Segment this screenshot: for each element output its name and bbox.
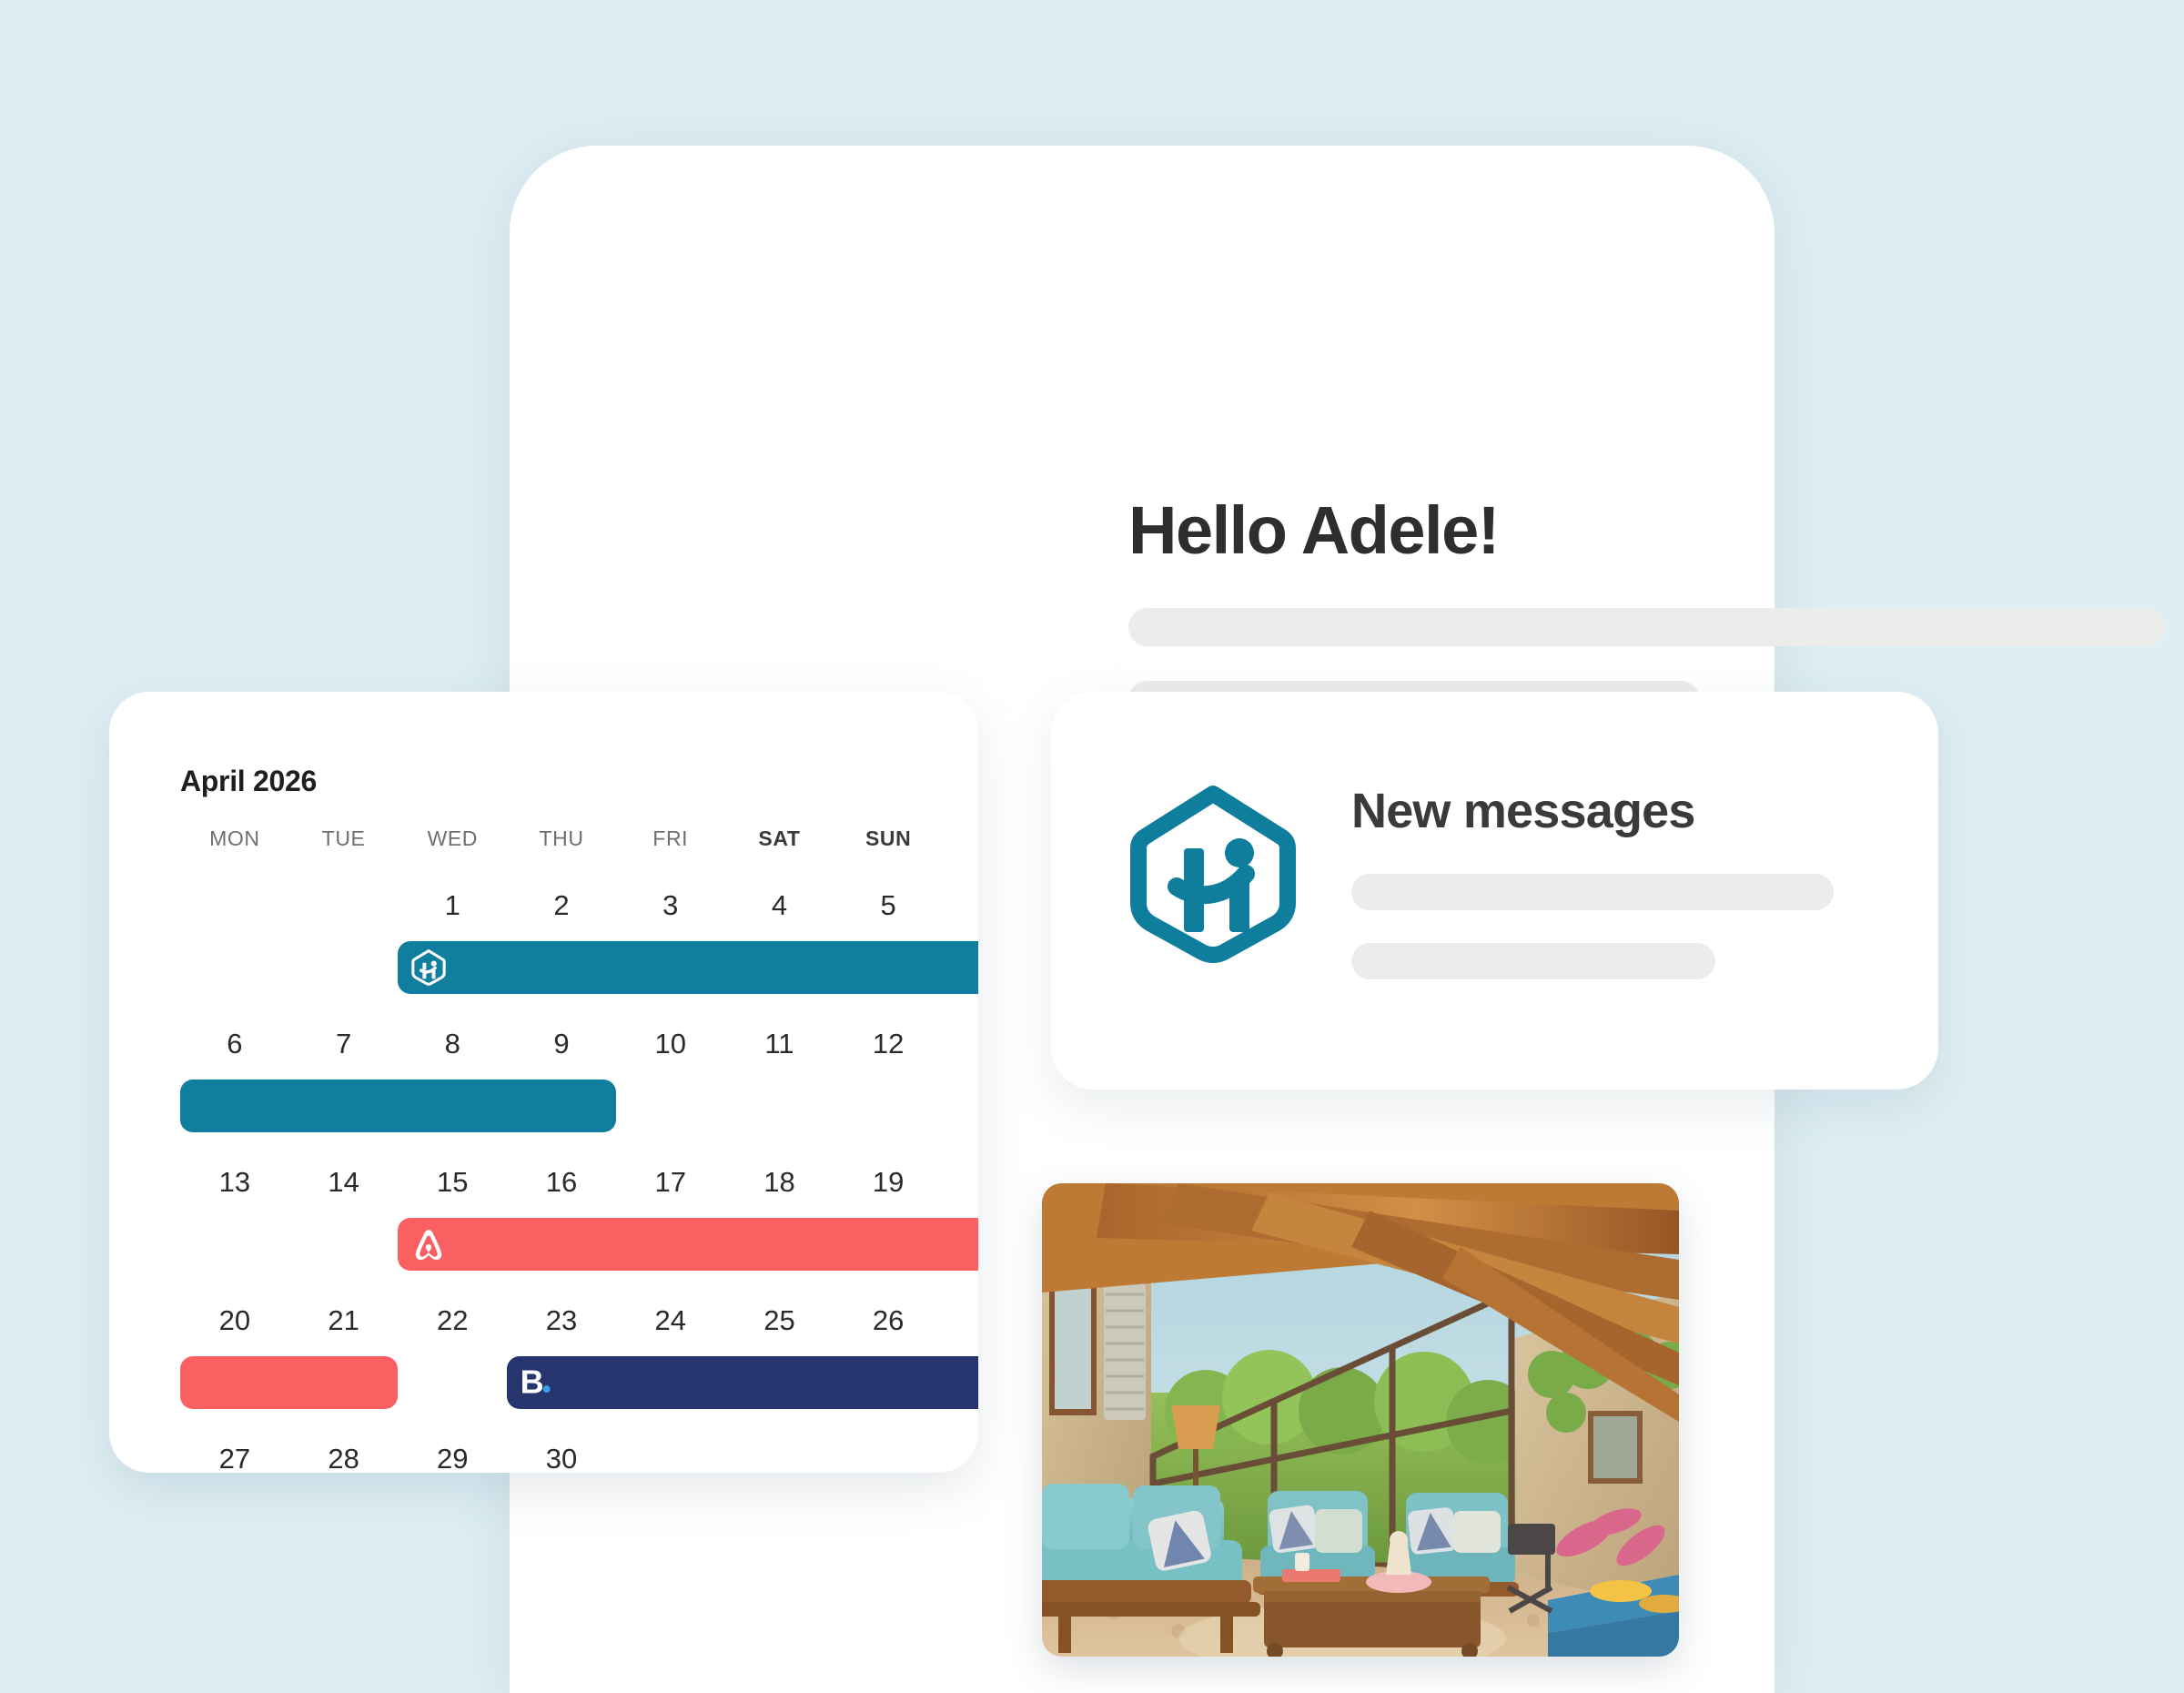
calendar-day-12[interactable]: 12	[834, 1019, 943, 1069]
calendar-day-empty	[616, 1434, 725, 1473]
calendar-day-19[interactable]: 19	[834, 1158, 943, 1207]
calendar-day-3[interactable]: 3	[616, 881, 725, 930]
booking-bar-hostaway[interactable]	[398, 941, 978, 994]
hostaway-home-icon	[1122, 783, 1304, 965]
calendar-day-18[interactable]: 18	[725, 1158, 834, 1207]
calendar-weekday-thu: THU	[507, 826, 616, 851]
calendar-day-1[interactable]: 1	[398, 881, 507, 930]
calendar-day-7[interactable]: 7	[289, 1019, 399, 1069]
calendar-day-27[interactable]: 27	[180, 1434, 289, 1473]
message-placeholder-line-2	[1351, 943, 1715, 979]
calendar-day-21[interactable]: 21	[289, 1296, 399, 1345]
booking-bar-booking[interactable]: B	[507, 1356, 978, 1409]
calendar-week-row: 27282930	[180, 1434, 943, 1473]
calendar-day-22[interactable]: 22	[398, 1296, 507, 1345]
calendar-day-13[interactable]: 13	[180, 1158, 289, 1207]
property-photo[interactable]	[1042, 1183, 1679, 1657]
calendar-day-2[interactable]: 2	[507, 881, 616, 930]
new-messages-title: New messages	[1351, 783, 1695, 839]
calendar-day-8[interactable]: 8	[398, 1019, 507, 1069]
calendar-grid[interactable]: 1234567891011121314151617181920212223242…	[180, 881, 943, 1473]
calendar-day-20[interactable]: 20	[180, 1296, 289, 1345]
calendar-day-6[interactable]: 6	[180, 1019, 289, 1069]
calendar-day-empty	[725, 1434, 834, 1473]
calendar-weekday-sat: SAT	[725, 826, 834, 851]
calendar-week-row: 20212223242526B	[180, 1296, 943, 1434]
greeting-placeholder-line-1	[1128, 608, 2166, 646]
calendar-day-16[interactable]: 16	[507, 1158, 616, 1207]
calendar-day-10[interactable]: 10	[616, 1019, 725, 1069]
booking-b-icon: B	[514, 1359, 561, 1406]
calendar-day-14[interactable]: 14	[289, 1158, 399, 1207]
calendar-weekday-tue: TUE	[289, 826, 399, 851]
calendar-card[interactable]: April 2026 MONTUEWEDTHUFRISATSUN 1234567…	[109, 692, 978, 1473]
calendar-week-row: 6789101112	[180, 1019, 943, 1158]
calendar-day-empty	[289, 881, 399, 930]
calendar-day-empty	[834, 1434, 943, 1473]
page-title: Hello Adele!	[1128, 492, 1499, 569]
calendar-month-label: April 2026	[180, 765, 317, 798]
airbnb-belo-icon	[405, 1221, 452, 1268]
calendar-weekday-mon: MON	[180, 826, 289, 851]
calendar-day-30[interactable]: 30	[507, 1434, 616, 1473]
message-placeholder-line-1	[1351, 874, 1834, 910]
calendar-weekday-wed: WED	[398, 826, 507, 851]
calendar-weekday-fri: FRI	[616, 826, 725, 851]
calendar-day-17[interactable]: 17	[616, 1158, 725, 1207]
svg-text:B: B	[521, 1363, 544, 1400]
calendar-day-24[interactable]: 24	[616, 1296, 725, 1345]
calendar-day-9[interactable]: 9	[507, 1019, 616, 1069]
calendar-weekday-sun: SUN	[834, 826, 943, 851]
calendar-weekday-header: MONTUEWEDTHUFRISATSUN	[180, 826, 943, 851]
calendar-day-25[interactable]: 25	[725, 1296, 834, 1345]
calendar-day-23[interactable]: 23	[507, 1296, 616, 1345]
calendar-week-row: 13141516171819	[180, 1158, 943, 1296]
calendar-day-28[interactable]: 28	[289, 1434, 399, 1473]
calendar-day-29[interactable]: 29	[398, 1434, 507, 1473]
calendar-day-empty	[180, 881, 289, 930]
calendar-day-4[interactable]: 4	[725, 881, 834, 930]
calendar-day-26[interactable]: 26	[834, 1296, 943, 1345]
calendar-day-11[interactable]: 11	[725, 1019, 834, 1069]
hostaway-home-icon	[405, 944, 452, 991]
booking-bar-hostaway[interactable]	[180, 1080, 616, 1132]
booking-bar-airbnb[interactable]	[180, 1356, 398, 1409]
calendar-day-15[interactable]: 15	[398, 1158, 507, 1207]
new-messages-card[interactable]: New messages	[1051, 692, 1938, 1090]
calendar-week-row: 12345	[180, 881, 943, 1019]
booking-bar-airbnb[interactable]	[398, 1218, 978, 1271]
calendar-day-5[interactable]: 5	[834, 881, 943, 930]
